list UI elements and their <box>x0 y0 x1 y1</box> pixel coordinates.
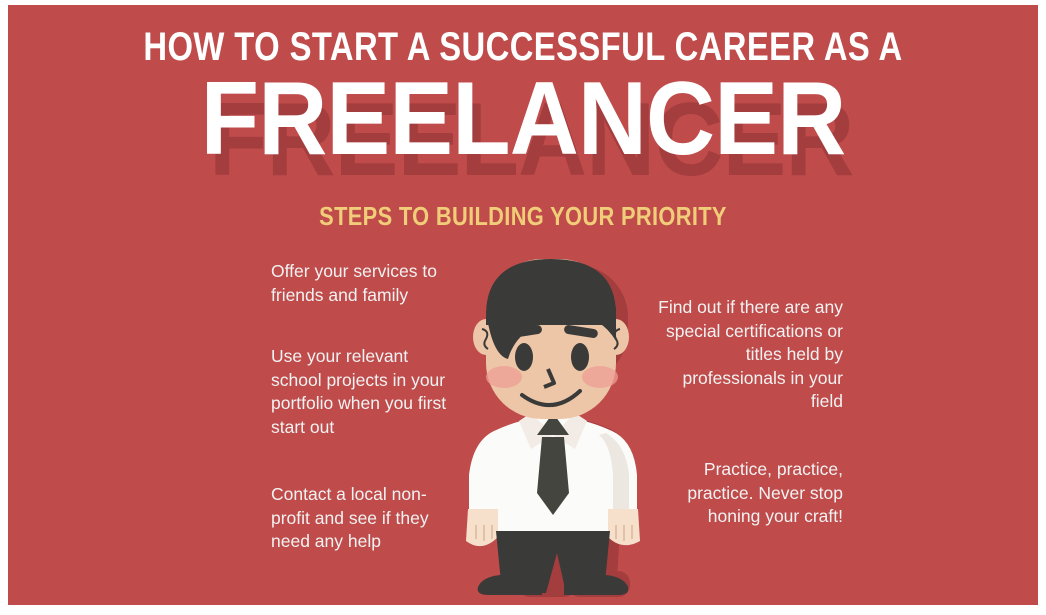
infographic-canvas: HOW TO START A SUCCESSFUL CAREER AS A FR… <box>8 5 1038 605</box>
section-subtitle: STEPS TO BUILDING YOUR PRIORITY <box>90 201 955 232</box>
tip-left-1: Offer your services to friends and famil… <box>271 260 461 307</box>
left-hand <box>466 509 498 546</box>
right-hand <box>608 509 640 545</box>
right-blush <box>582 366 618 388</box>
freelancer-character-illustration <box>438 253 668 605</box>
headline-main-title: FREELANCER <box>49 67 997 171</box>
left-eye <box>515 343 533 371</box>
right-eye <box>571 343 589 371</box>
tip-right-2: Practice, practice, practice. Never stop… <box>648 458 843 529</box>
headline-main-group: FREELANCER FREELANCER <box>8 67 1038 177</box>
left-blush <box>486 366 522 388</box>
tip-left-2: Use your relevant school projects in you… <box>271 345 461 439</box>
tip-left-3: Contact a local non-profit and see if th… <box>271 483 461 554</box>
tip-right-1: Find out if there are any special certif… <box>648 296 843 414</box>
head <box>473 259 629 419</box>
